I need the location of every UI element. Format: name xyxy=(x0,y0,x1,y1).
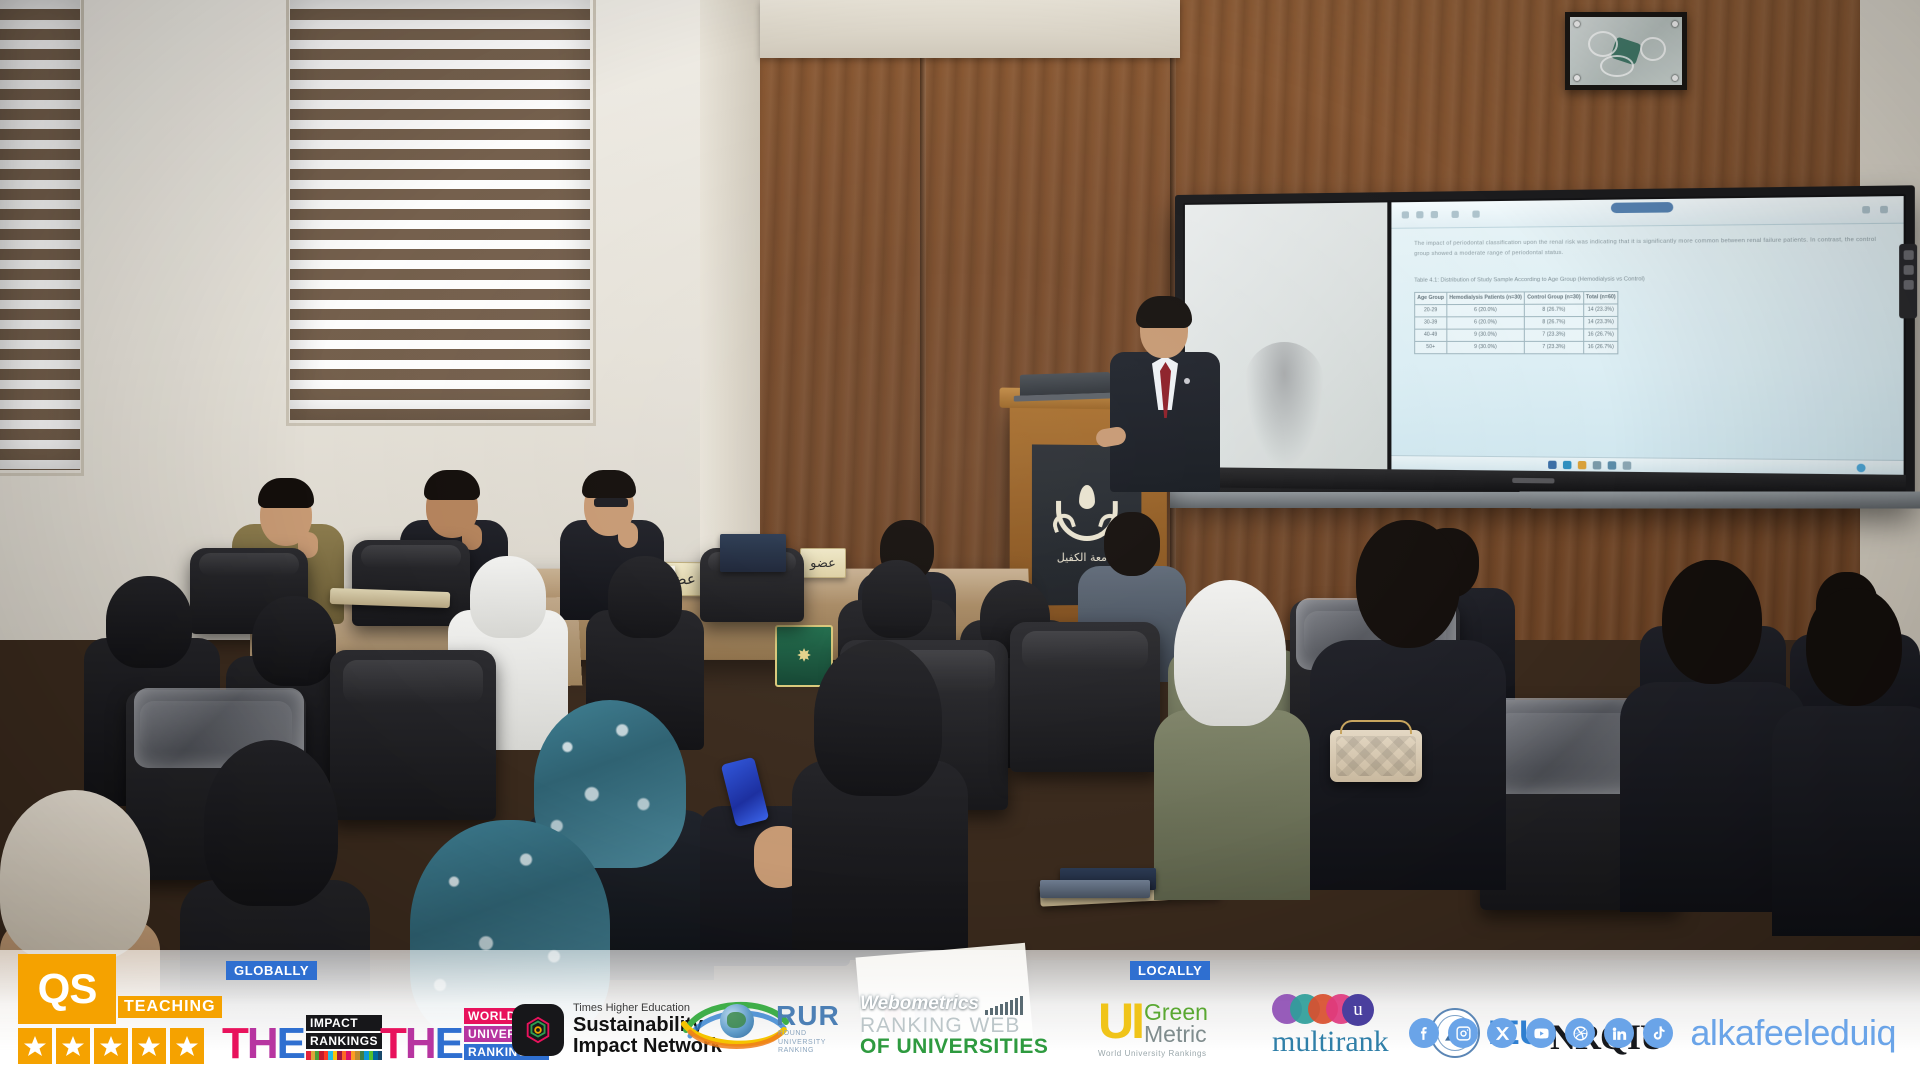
board-display[interactable]: The impact of periodontal classification… xyxy=(1391,196,1903,475)
qs-mark: QS xyxy=(18,954,116,1024)
table-cell: 6 (20.0%) xyxy=(1447,304,1525,317)
seminar-photograph: The impact of periodontal classification… xyxy=(0,0,1920,1080)
window-frame-center xyxy=(286,0,596,426)
board-button-menu[interactable] xyxy=(1903,265,1913,275)
uigm-word2: Metric xyxy=(1144,1024,1208,1046)
star-icon xyxy=(94,1028,128,1064)
webometrics-logo: Webometrics RANKING WEB OF UNIVERSITIES xyxy=(860,993,1082,1058)
document-ribbon[interactable] xyxy=(1391,196,1903,229)
table-row: 40-49 9 (30.0%) 7 (23.3%) 16 (26.7%) xyxy=(1415,329,1619,342)
qs-star-rating xyxy=(18,1028,204,1064)
lapel-pin-icon xyxy=(1184,378,1190,384)
board-brand-logo xyxy=(1512,478,1554,484)
tiktok-icon[interactable] xyxy=(1643,1018,1673,1048)
linkedin-icon[interactable] xyxy=(1604,1018,1634,1048)
globe-icon xyxy=(720,1004,754,1038)
table-cell: 20-29 xyxy=(1415,305,1447,317)
audience-member xyxy=(1772,588,1920,918)
handbag xyxy=(1330,730,1422,782)
ribbon-tab-pill[interactable] xyxy=(1611,202,1673,213)
globally-tag: GLOBALLY xyxy=(226,961,317,980)
x-twitter-icon[interactable] xyxy=(1487,1018,1517,1048)
table-cell: 7 (23.3%) xyxy=(1525,341,1584,353)
rur-sub-line2: UNIVERSITY xyxy=(778,1039,826,1048)
uigm-mark: UI xyxy=(1098,1002,1142,1041)
table-cell: 14 (23.3%) xyxy=(1583,316,1618,329)
board-button-input[interactable] xyxy=(1903,280,1913,290)
table-cell: 16 (26.7%) xyxy=(1583,341,1618,353)
the-mark-t: T xyxy=(222,1019,247,1068)
table-cell: 40-49 xyxy=(1415,329,1447,341)
table-row: 30-39 6 (20.0%) 8 (26.7%) 14 (23.3%) xyxy=(1415,316,1619,329)
webometrics-line1: Webometrics xyxy=(860,993,979,1015)
eyeglasses-icon xyxy=(594,498,628,507)
uigm-subtitle: World University Rankings xyxy=(1098,1049,1258,1058)
rur-ranking-logo: RUR ROUND UNIVERSITY RANKING xyxy=(680,986,840,1060)
qs-mark-label: QS xyxy=(38,965,97,1013)
audience-member xyxy=(1310,520,1506,880)
document-paragraph: The impact of periodontal classification… xyxy=(1414,235,1879,274)
table-row: 50+ 9 (30.0%) 7 (23.3%) 16 (26.7%) xyxy=(1415,341,1619,353)
ui-greenmetric-logo: UI Green Metric World University Ranking… xyxy=(1098,1002,1258,1058)
board-button-power[interactable] xyxy=(1903,250,1913,260)
rur-sub-line3: RANKING xyxy=(778,1047,826,1056)
social-links: alkafeeleduiq xyxy=(1409,1012,1896,1054)
document-table: Age Group Hemodialysis Patients (n=30) C… xyxy=(1414,291,1619,354)
the-mark-e: E xyxy=(277,1019,304,1068)
sdg-color-bar xyxy=(306,1051,382,1060)
table-header-cell: Hemodialysis Patients (n=30) xyxy=(1447,292,1525,305)
star-icon xyxy=(170,1028,204,1064)
screenshot-root: The impact of periodontal classification… xyxy=(0,0,1920,1080)
the-impact-line1: IMPACT xyxy=(306,1015,382,1031)
table-cell: 7 (23.3%) xyxy=(1525,329,1584,341)
umultirank-circles-icon: u xyxy=(1272,994,1422,1028)
table-cell: 8 (26.7%) xyxy=(1525,317,1584,330)
interactive-whiteboard[interactable]: The impact of periodontal classification… xyxy=(1175,185,1915,504)
speaker-shadow xyxy=(1245,342,1324,469)
ceiling-soffit xyxy=(760,0,1180,58)
table-cell: 14 (23.3%) xyxy=(1583,304,1618,317)
table-cell: 9 (30.0%) xyxy=(1447,341,1525,353)
the-mark-t: T xyxy=(380,1019,405,1068)
wall-decor-frame xyxy=(1565,12,1687,90)
table-cell: 30-39 xyxy=(1415,317,1447,329)
umultirank-badge: u xyxy=(1342,994,1374,1026)
the-impact-line2: RANKINGS xyxy=(306,1033,382,1049)
the-mark-h: H xyxy=(247,1019,277,1068)
presenter-person xyxy=(1110,300,1220,490)
board-mount-rail xyxy=(1170,491,1920,508)
table-cell: 8 (26.7%) xyxy=(1525,304,1584,317)
window-frame-left xyxy=(0,0,84,476)
chair xyxy=(1010,622,1160,772)
the-mark-e: E xyxy=(435,1019,462,1068)
webometrics-line2: RANKING WEB xyxy=(860,1015,1082,1036)
audience-member xyxy=(1154,580,1310,880)
umultirank-logo: u multirank xyxy=(1272,994,1422,1058)
dribbble-icon[interactable] xyxy=(1565,1018,1595,1048)
bar-chart-icon xyxy=(985,995,1023,1015)
hexagon-network-icon xyxy=(512,1004,564,1056)
table-header-cell: Control Group (n=30) xyxy=(1525,292,1584,305)
table-cell: 6 (20.0%) xyxy=(1447,317,1525,329)
table-header-cell: Total (n=60) xyxy=(1583,291,1618,304)
webometrics-line3: OF UNIVERSITIES xyxy=(860,1036,1082,1058)
the-impact-rankings-logo: THE IMPACT RANKINGS xyxy=(222,1015,382,1062)
rur-sub-line1: ROUND xyxy=(778,1030,826,1039)
presenter-laptop xyxy=(1020,372,1114,401)
star-icon xyxy=(132,1028,166,1064)
star-icon xyxy=(18,1028,52,1064)
monitor xyxy=(720,534,786,572)
table-row: 20-29 6 (20.0%) 8 (26.7%) 14 (23.3%) xyxy=(1415,304,1619,317)
youtube-icon[interactable] xyxy=(1526,1018,1556,1048)
rankings-banner: QS TEACHING GLOBALLY THE IMPACT RANKINGS xyxy=(0,950,1920,1080)
board-side-buttons[interactable] xyxy=(1899,244,1917,319)
table-cell: 9 (30.0%) xyxy=(1447,329,1525,341)
facebook-icon[interactable] xyxy=(1409,1018,1439,1048)
rur-subtitle: ROUND UNIVERSITY RANKING xyxy=(778,1030,826,1056)
table-cell: 16 (26.7%) xyxy=(1583,329,1618,341)
locally-tag: LOCALLY xyxy=(1130,961,1210,980)
social-handle[interactable]: alkafeeleduiq xyxy=(1690,1012,1896,1054)
the-mark-h: H xyxy=(405,1019,435,1068)
instagram-icon[interactable] xyxy=(1448,1018,1478,1048)
umultirank-wordmark: multirank xyxy=(1272,1026,1422,1058)
qs-stars-logo: QS TEACHING xyxy=(18,954,214,1072)
rur-mark: RUR xyxy=(776,1000,840,1032)
audience-member xyxy=(792,640,968,940)
document-table-caption: Table 4.1: Distribution of Study Sample … xyxy=(1414,275,1879,284)
qs-category-label: TEACHING xyxy=(118,996,222,1018)
table-header-row: Age Group Hemodialysis Patients (n=30) C… xyxy=(1415,291,1619,304)
table-cell: 50+ xyxy=(1415,341,1447,353)
table-header-cell: Age Group xyxy=(1415,292,1447,304)
star-icon xyxy=(56,1028,90,1064)
notebook xyxy=(1040,880,1150,898)
